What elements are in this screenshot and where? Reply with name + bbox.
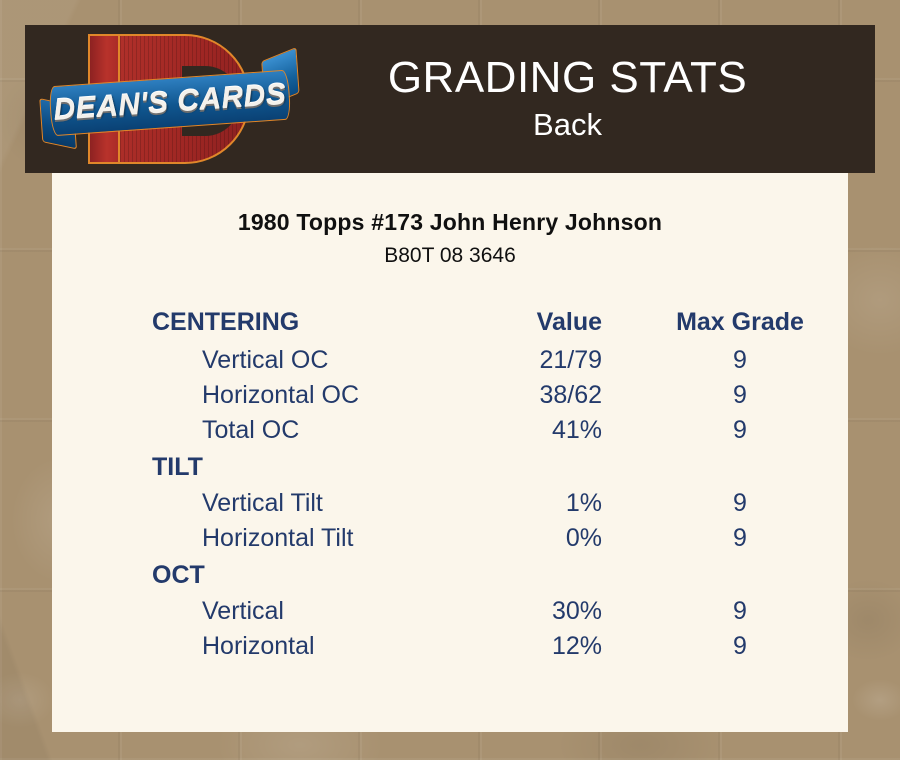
stat-max-grade: 9 — [652, 413, 848, 448]
logo-ribbon-icon: DEAN'S CARDS — [39, 69, 300, 139]
stat-max-grade: 9 — [652, 486, 848, 521]
header-title-block: GRADING STATS Back — [300, 53, 875, 145]
stat-max-grade: 9 — [652, 594, 848, 629]
section-spacer-cell — [472, 556, 652, 594]
stat-value: 38/62 — [472, 378, 652, 413]
table-head: CENTERING Value Max Grade — [52, 302, 848, 343]
stat-label: Vertical — [52, 594, 472, 629]
table-row: Horizontal Tilt0%9 — [52, 521, 848, 556]
table-row: Vertical OC21/799 — [52, 343, 848, 378]
stat-max-grade: 9 — [652, 343, 848, 378]
stat-label: Horizontal OC — [52, 378, 472, 413]
table-row: Vertical30%9 — [52, 594, 848, 629]
section-header-row: TILT — [52, 448, 848, 486]
table-body: Vertical OC21/799Horizontal OC38/629Tota… — [52, 343, 848, 664]
stat-max-grade: 9 — [652, 629, 848, 664]
table-row: Horizontal OC38/629 — [52, 378, 848, 413]
deans-cards-logo[interactable]: DEAN'S CARDS — [40, 34, 300, 164]
stat-value: 1% — [472, 486, 652, 521]
logo-wordmark: DEAN'S CARDS — [48, 70, 291, 137]
stat-value: 0% — [472, 521, 652, 556]
stat-value: 30% — [472, 594, 652, 629]
stat-label: Vertical OC — [52, 343, 472, 378]
stat-value: 21/79 — [472, 343, 652, 378]
card-serial-number: B80T 08 3646 — [52, 244, 848, 268]
page-title: GRADING STATS — [300, 53, 835, 103]
section-label-tilt: TILT — [52, 448, 472, 486]
column-header-max-grade: Max Grade — [652, 302, 848, 343]
section-spacer-cell — [472, 448, 652, 486]
table-header-row: CENTERING Value Max Grade — [52, 302, 848, 343]
section-header-row: OCT — [52, 556, 848, 594]
stat-label: Horizontal Tilt — [52, 521, 472, 556]
column-header-value: Value — [472, 302, 652, 343]
card-title: 1980 Topps #173 John Henry Johnson — [52, 209, 848, 236]
brand-header: DEAN'S CARDS GRADING STATS Back — [25, 25, 875, 173]
stat-max-grade: 9 — [652, 521, 848, 556]
grading-stats-table: CENTERING Value Max Grade Vertical OC21/… — [52, 302, 848, 664]
stat-value: 12% — [472, 629, 652, 664]
table-row: Vertical Tilt1%9 — [52, 486, 848, 521]
stat-value: 41% — [472, 413, 652, 448]
stat-max-grade: 9 — [652, 378, 848, 413]
stat-label: Vertical Tilt — [52, 486, 472, 521]
section-spacer-cell — [652, 556, 848, 594]
stat-label: Horizontal — [52, 629, 472, 664]
column-header-centering: CENTERING — [52, 302, 472, 343]
table-row: Horizontal12%9 — [52, 629, 848, 664]
section-spacer-cell — [652, 448, 848, 486]
page-subtitle: Back — [300, 105, 835, 145]
section-label-oct: OCT — [52, 556, 472, 594]
table-row: Total OC41%9 — [52, 413, 848, 448]
stat-label: Total OC — [52, 413, 472, 448]
content-panel: 1980 Topps #173 John Henry Johnson B80T … — [52, 173, 848, 732]
